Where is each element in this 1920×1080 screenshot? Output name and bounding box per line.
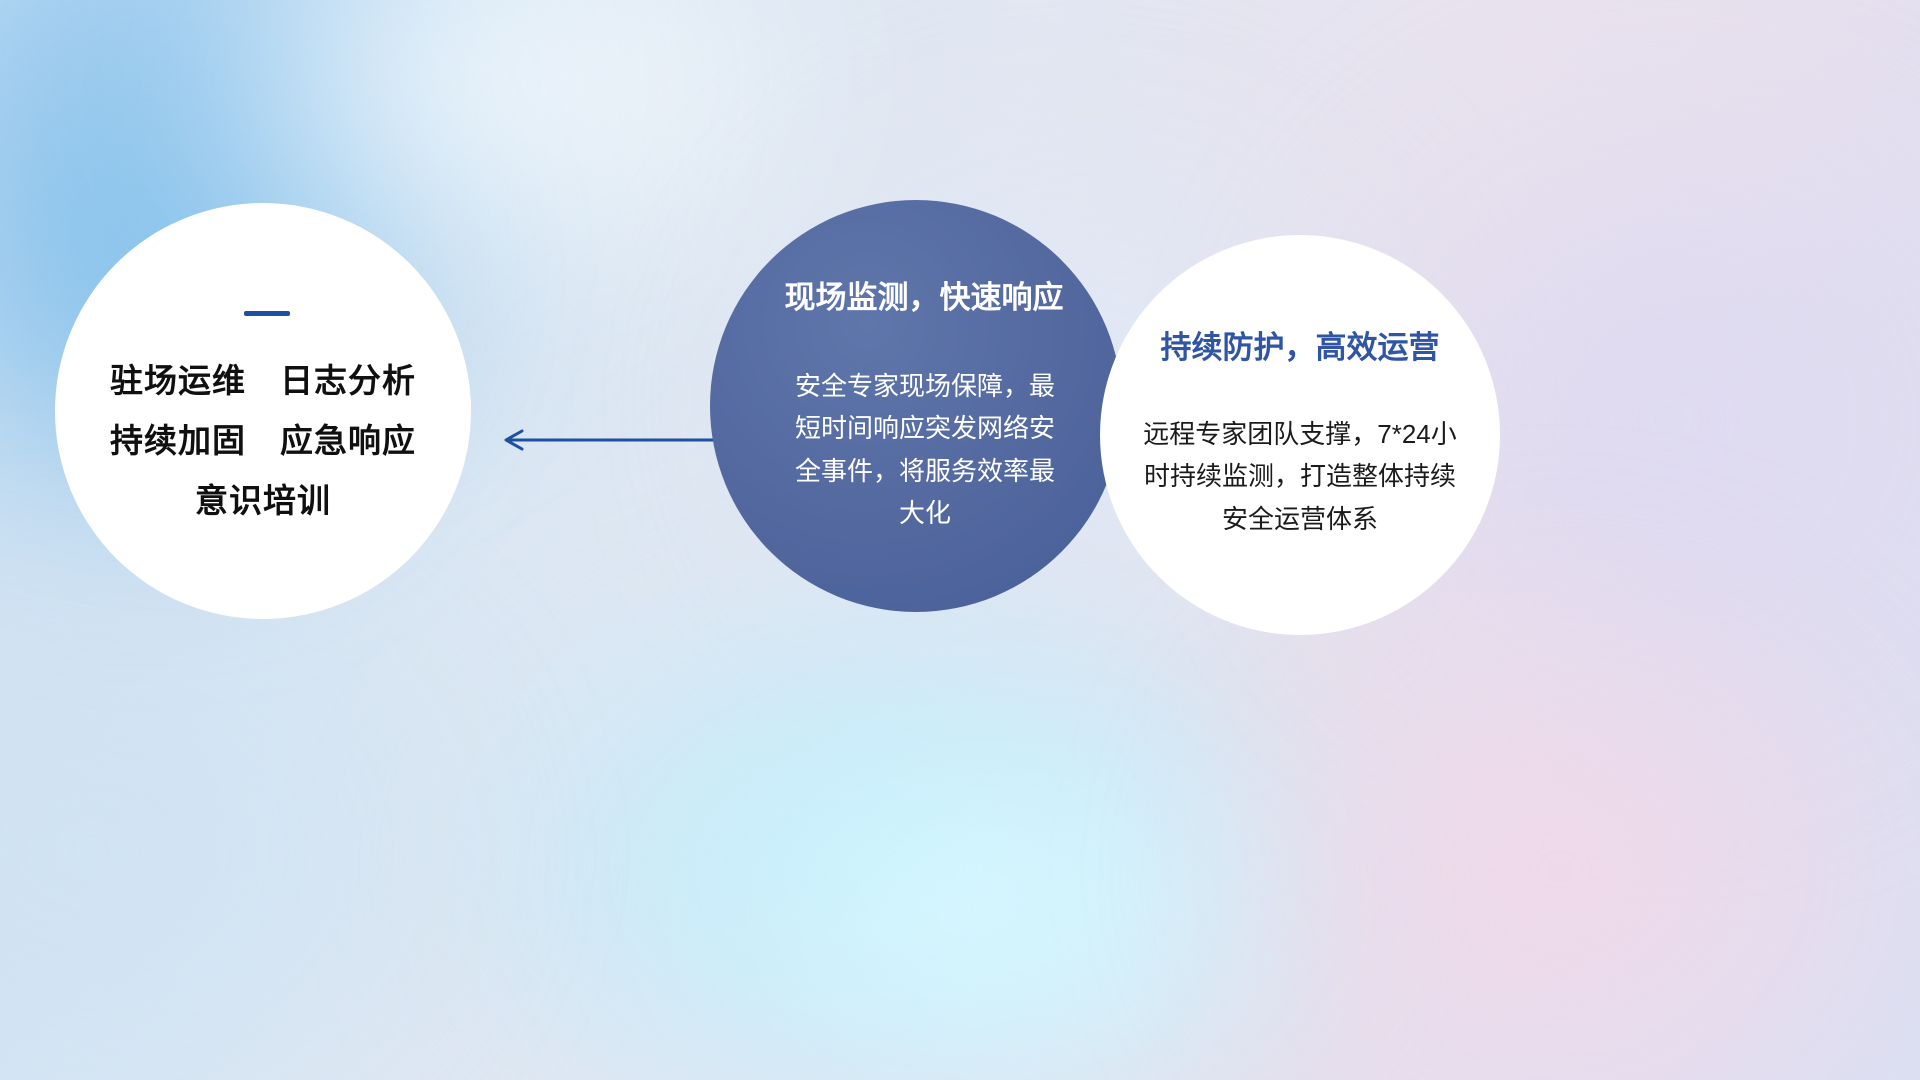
left-circle-line-3: 意识培训 xyxy=(195,484,331,517)
connector-arrow xyxy=(498,424,714,456)
divider-dash xyxy=(244,311,290,316)
right-circle-body: 远程专家团队支撑，7*24小时持续监测，打造整体持续安全运营体系 xyxy=(1132,413,1468,539)
circle-onsite-monitoring[interactable]: 现场监测，快速响应 安全专家现场保障，最短时间响应突发网络安全事件，将服务效率最… xyxy=(710,200,1122,612)
mid-circle-title: 现场监测，快速响应 xyxy=(785,282,1064,313)
left-circle-content: 驻场运维 日志分析 持续加固 应急响应 意识培训 xyxy=(55,203,471,619)
circle-service-capabilities[interactable]: 驻场运维 日志分析 持续加固 应急响应 意识培训 xyxy=(55,203,471,619)
mid-circle-content: 现场监测，快速响应 安全专家现场保障，最短时间响应突发网络安全事件，将服务效率最… xyxy=(700,200,1132,612)
left-circle-line-2: 持续加固 应急响应 xyxy=(110,424,416,457)
right-circle-content: 持续防护，高效运营 远程专家团队支撑，7*24小时持续监测，打造整体持续安全运营… xyxy=(1100,235,1500,635)
slide-canvas: 现场监测，快速响应 安全专家现场保障，最短时间响应突发网络安全事件，将服务效率最… xyxy=(0,0,1920,1080)
left-circle-line-1: 驻场运维 日志分析 xyxy=(110,364,416,397)
right-circle-title: 持续防护，高效运营 xyxy=(1161,332,1440,363)
arrow-left-icon xyxy=(498,424,714,456)
circle-continuous-protection[interactable]: 持续防护，高效运营 远程专家团队支撑，7*24小时持续监测，打造整体持续安全运营… xyxy=(1100,235,1500,635)
mid-circle-body: 安全专家现场保障，最短时间响应突发网络安全事件，将服务效率最大化 xyxy=(794,365,1056,533)
